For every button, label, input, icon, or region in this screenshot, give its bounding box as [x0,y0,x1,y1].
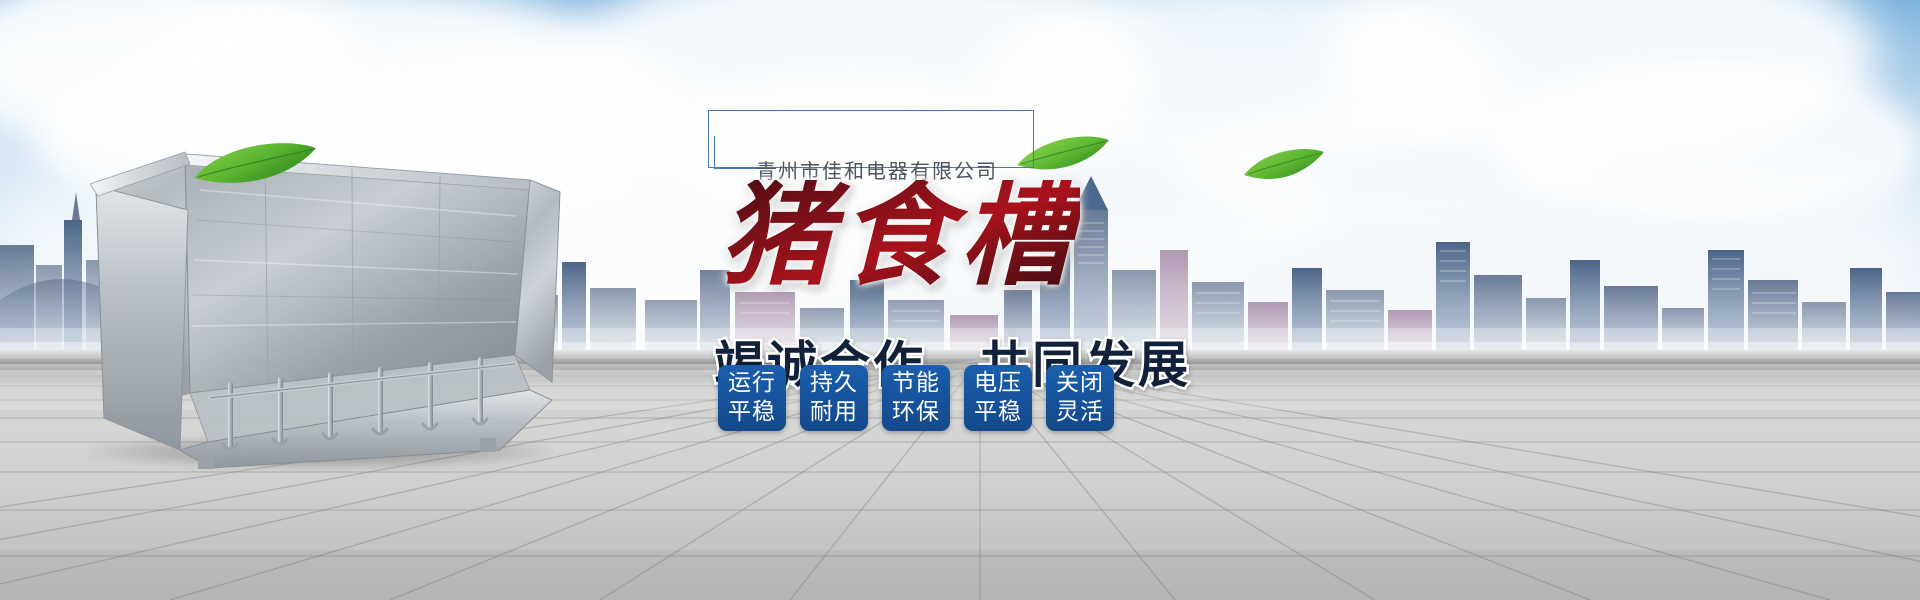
feature-badge-2[interactable]: 持久 耐用 [800,365,868,431]
feature-badge-1[interactable]: 运行 平稳 [718,365,786,431]
product-image-pig-feeder-trough [60,150,580,480]
green-leaf-right-icon [1242,148,1326,191]
feature-badge-4-line2: 平稳 [974,398,1022,427]
feature-badge-1-line1: 运行 [728,369,776,398]
promo-banner: 青州市佳和电器有限公司 猪食槽 竭诚合作，共同发展 运行 平稳 持久 耐用 节能… [0,0,1920,600]
feature-badge-5[interactable]: 关闭 灵活 [1046,365,1114,431]
feature-badge-5-line1: 关闭 [1056,369,1104,398]
feature-badge-3-line1: 节能 [892,369,940,398]
green-leaf-left-icon [190,140,320,197]
feature-badge-4-line1: 电压 [974,369,1022,398]
feature-badge-4[interactable]: 电压 平稳 [964,365,1032,431]
feature-badge-2-line1: 持久 [810,369,858,398]
feature-badge-3[interactable]: 节能 环保 [882,365,950,431]
feature-badge-2-line2: 耐用 [810,398,858,427]
feature-badge-3-line2: 环保 [892,398,940,427]
feature-badge-5-line2: 灵活 [1056,398,1104,427]
feature-badge-list: 运行 平稳 持久 耐用 节能 环保 电压 平稳 关闭 灵活 [718,365,1114,431]
feature-badge-1-line2: 平稳 [728,398,776,427]
page-title: 猪食槽 [720,180,1080,292]
decorative-vertical-rule [714,136,715,169]
copy-block: 青州市佳和电器有限公司 猪食槽 竭诚合作，共同发展 运行 平稳 持久 耐用 节能… [700,100,1220,560]
